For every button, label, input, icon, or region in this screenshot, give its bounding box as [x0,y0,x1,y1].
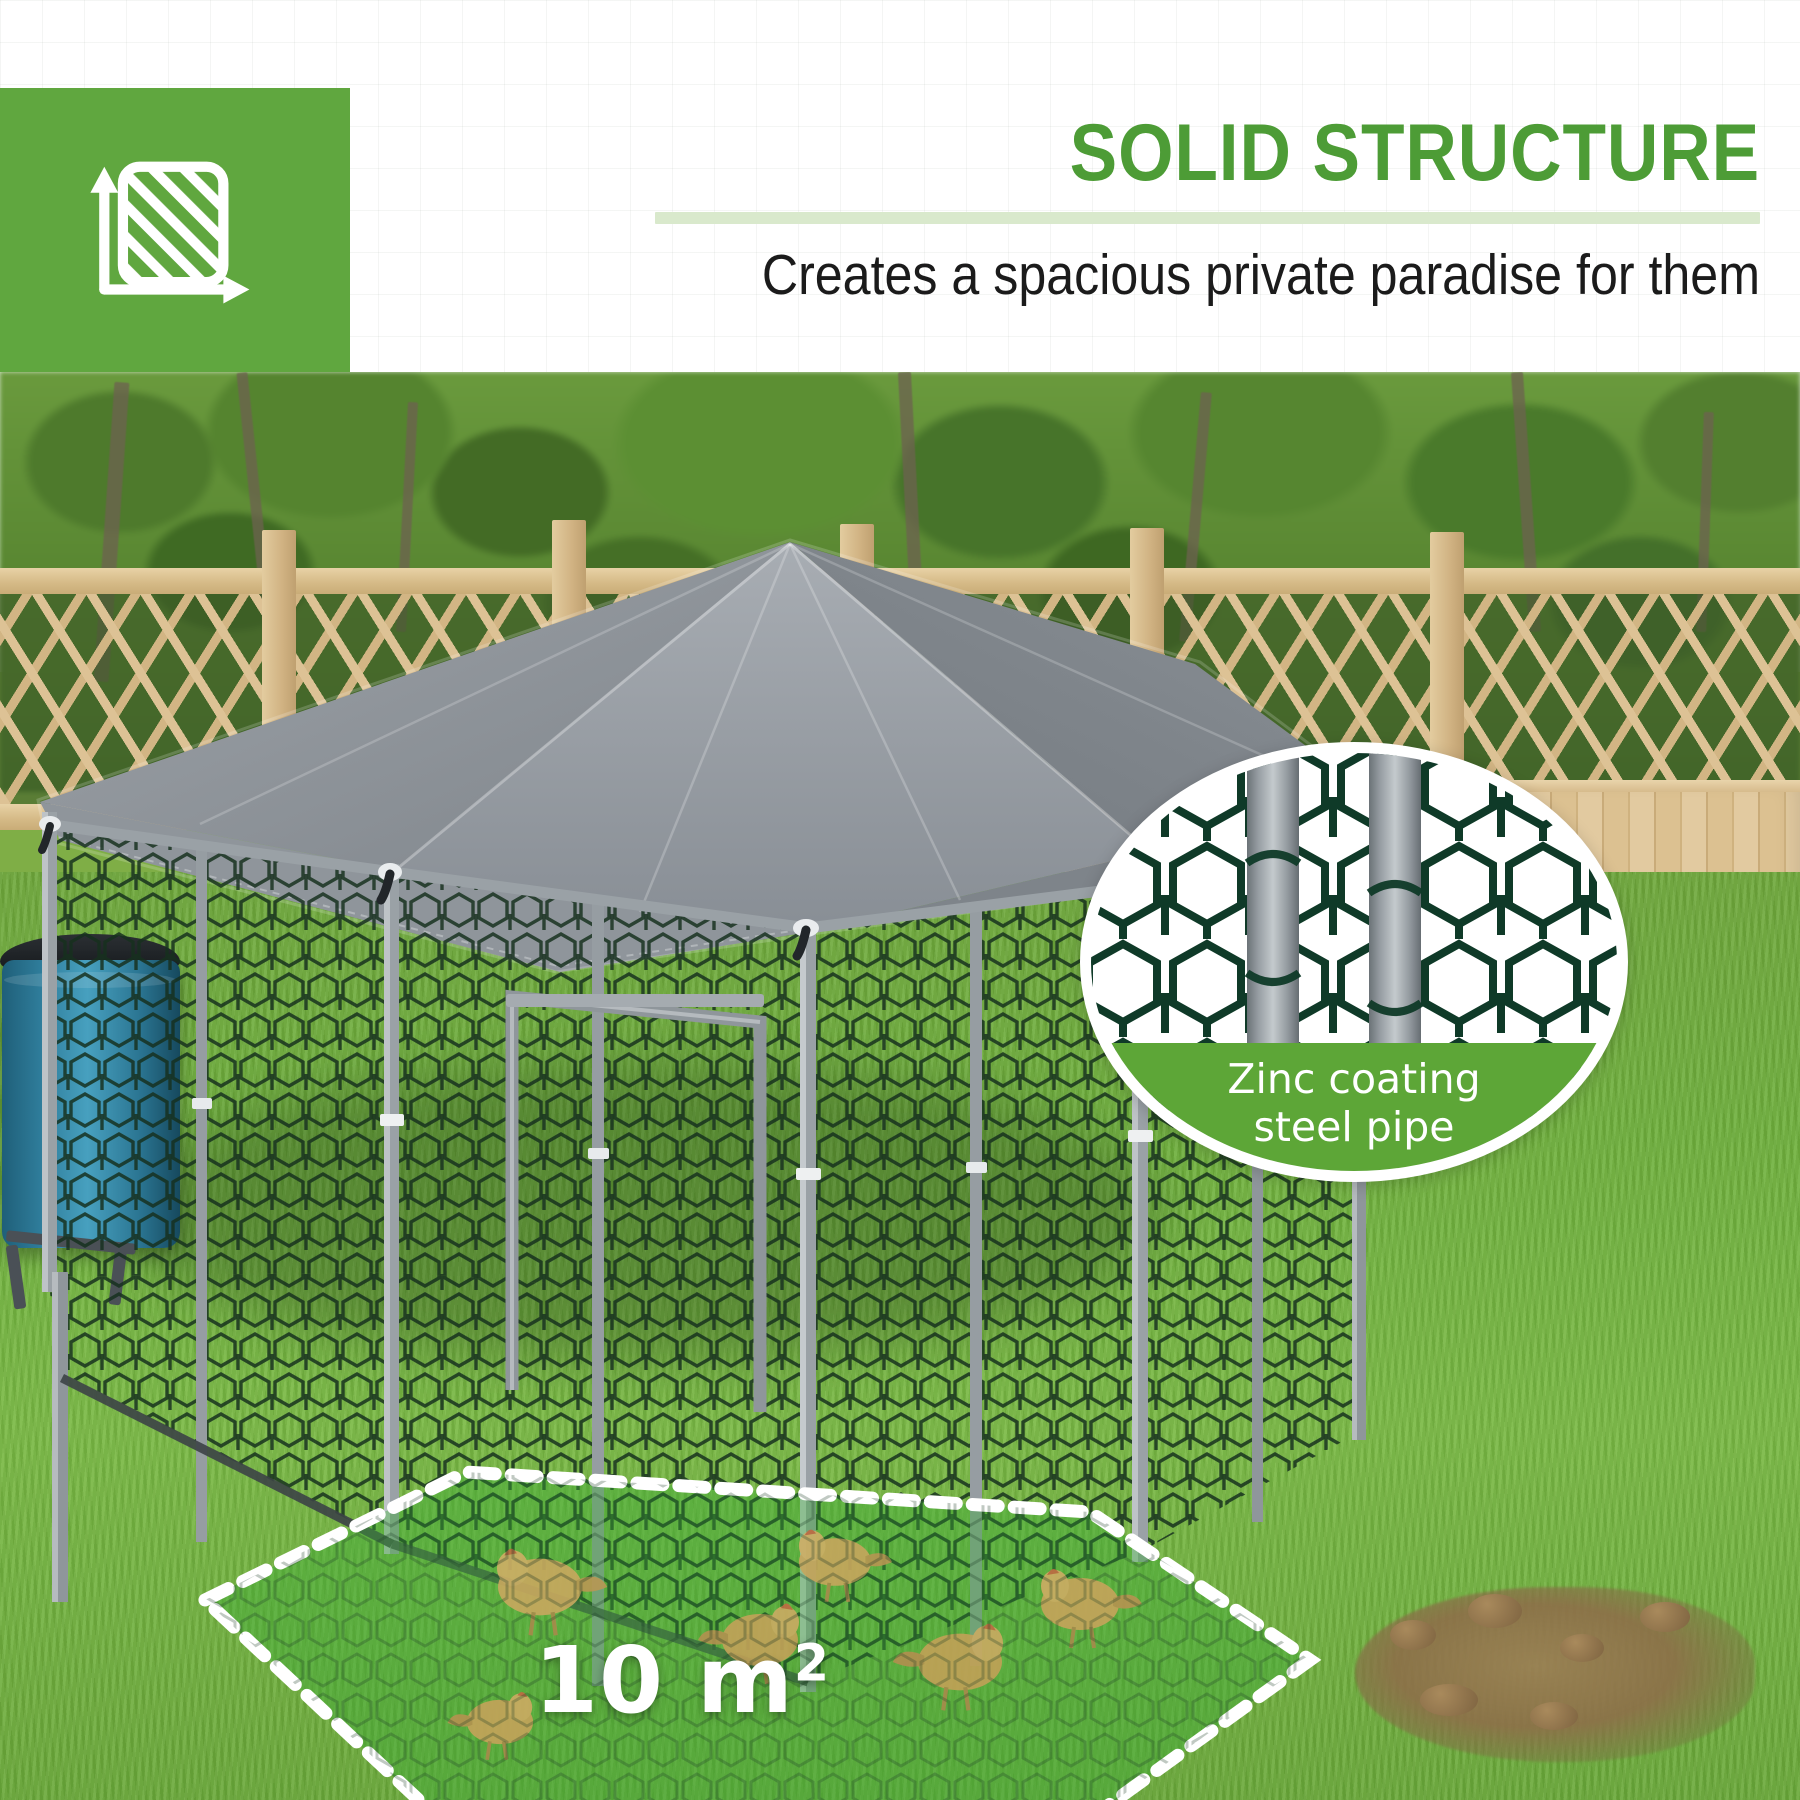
product-feature-image: SOLID STRUCTURE Creates a spacious priva… [0,0,1800,1800]
callout-label-line1: Zinc coating [1227,1055,1480,1103]
area-dimension-icon [82,137,268,323]
product-photo: 10 m2 [0,372,1800,1800]
area-exponent: 2 [794,1633,830,1692]
intermediate-post [196,842,207,1542]
area-label: 10 m2 [534,1627,830,1734]
post-collar [192,1098,212,1109]
header-band: SOLID STRUCTURE Creates a spacious priva… [0,0,1800,372]
callout-label-line2: steel pipe [1254,1103,1455,1151]
header-text-block: SOLID STRUCTURE Creates a spacious priva… [400,110,1760,360]
area-value: 10 m [534,1627,794,1734]
mesh-wall-front-left [48,1272,392,1542]
door-header [506,994,764,1007]
callout-banner: Zinc coating steel pipe [1081,1043,1627,1182]
callout-circle: Zinc coating steel pipe [1080,742,1628,1182]
page-subtitle: Creates a spacious private paradise for … [563,244,1760,306]
post-collar [796,1168,821,1180]
post-collar [966,1162,987,1173]
post-collar [380,1114,404,1126]
page-title: SOLID STRUCTURE [563,110,1760,196]
post-collar [588,1148,609,1159]
area-dimension-icon-tile [0,88,350,372]
mesh-wall-back-left [48,824,392,1277]
title-divider [655,212,1760,224]
zinc-coating-callout: Zinc coating steel pipe [1080,742,1628,1182]
